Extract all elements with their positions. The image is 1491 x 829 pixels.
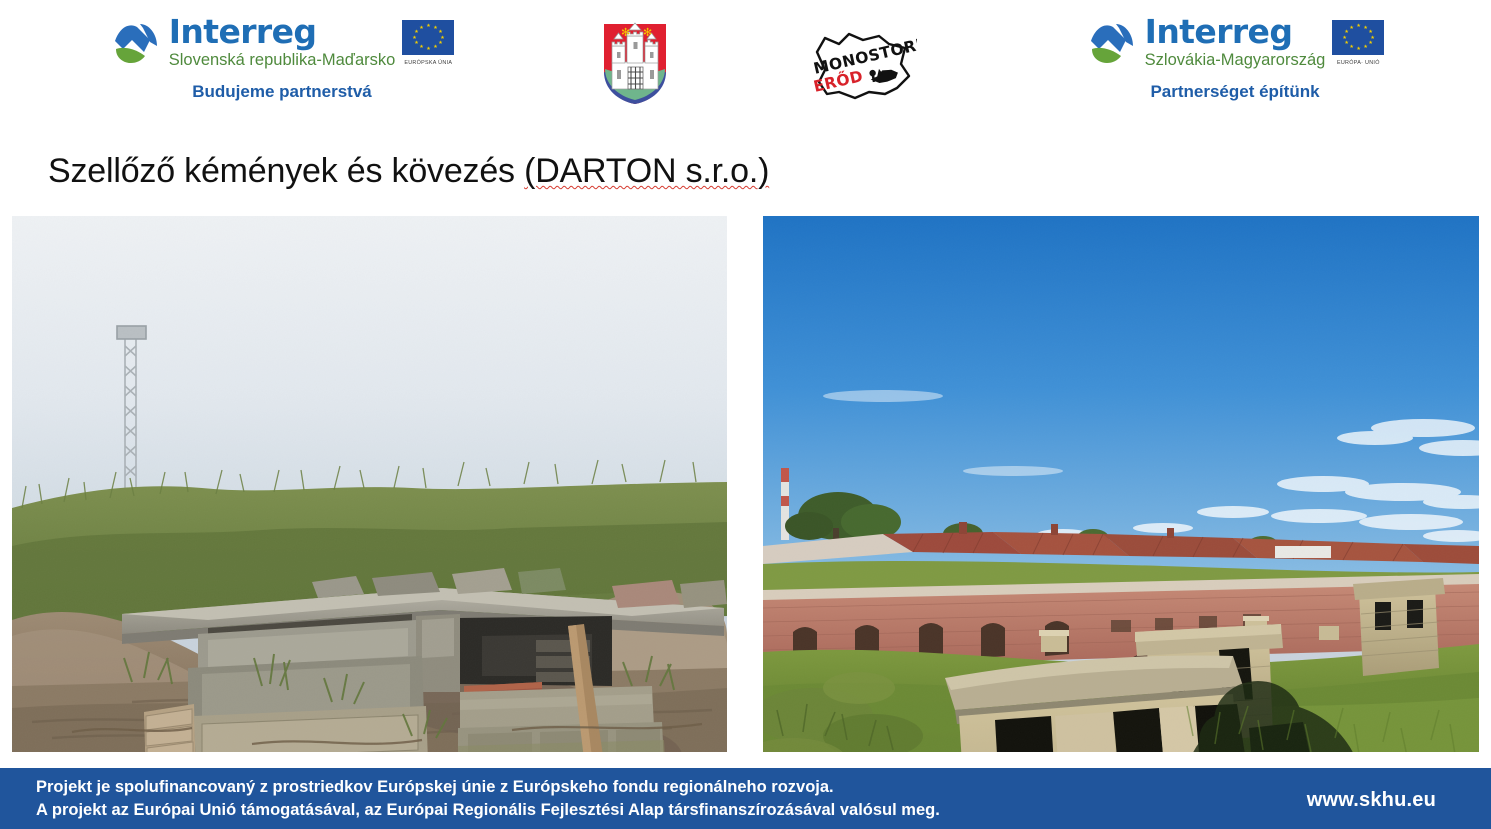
- interreg-mark-icon: [1086, 18, 1138, 70]
- footer-line-hungarian: A projekt az Európai Unió támogatásával,…: [36, 799, 940, 822]
- page-title-company-spellchecked: (DARTON s.r.o.): [524, 152, 769, 190]
- interreg-tagline-slovak: Budujeme partnerstvá: [117, 82, 447, 102]
- footer-funding-text: Projekt je spolufinancovaný z prostriedk…: [36, 776, 940, 822]
- interreg-programme-name: Szlovákia-Magyarország: [1145, 51, 1326, 70]
- interreg-wordmark-text: Interreg: [1145, 16, 1326, 48]
- footer-line-slovak: Projekt je spolufinancovaný z prostriedk…: [36, 776, 940, 799]
- svg-text:✻: ✻: [643, 26, 652, 39]
- page-title: Szellőző kémények és kövezés (DARTON s.r…: [48, 152, 769, 191]
- page-title-part-1: Szellőző kémények és kövezés: [48, 152, 524, 190]
- photo-chimneys-fortress-panorama: [763, 216, 1479, 752]
- interreg-tagline-hungarian: Partnerséget építünk: [1070, 82, 1400, 102]
- eu-flag-icon: ★ ★ ★ ★ ★ ★ ★ ★ ★ ★ ★ ★ EURÓPA· UNIÓ: [1332, 20, 1384, 55]
- footer-website-url[interactable]: www.skhu.eu: [1307, 789, 1436, 812]
- interreg-mark-icon: [110, 18, 162, 70]
- header-logo-bar: Interreg Slovenská republika-Maďarsko ★ …: [0, 0, 1491, 128]
- interreg-logo-hungarian: Interreg Szlovákia-Magyarország ★ ★ ★ ★ …: [1070, 16, 1400, 102]
- svg-text:✻: ✻: [621, 26, 630, 39]
- eu-flag-caption: EURÓPSKA ÚNIA: [402, 60, 454, 66]
- interreg-programme-name: Slovenská republika-Maďarsko: [169, 51, 396, 70]
- footer-bar: Projekt je spolufinancovaný z prostriedk…: [0, 768, 1491, 829]
- komarom-coat-of-arms-icon: ✻ ✻: [600, 22, 670, 106]
- eu-flag-icon: ★ ★ ★ ★ ★ ★ ★ ★ ★ ★ ★ ★ EURÓPSKA ÚNIA: [402, 20, 454, 55]
- monostori-erod-logo-icon: MONOSTORI ERŐD: [805, 30, 917, 102]
- interreg-logo-slovak: Interreg Slovenská republika-Maďarsko ★ …: [117, 16, 447, 102]
- eu-flag-caption: EURÓPA· UNIÓ: [1332, 60, 1384, 66]
- interreg-wordmark-text: Interreg: [169, 16, 396, 48]
- photo-ventilation-chimney-construction: [12, 216, 727, 752]
